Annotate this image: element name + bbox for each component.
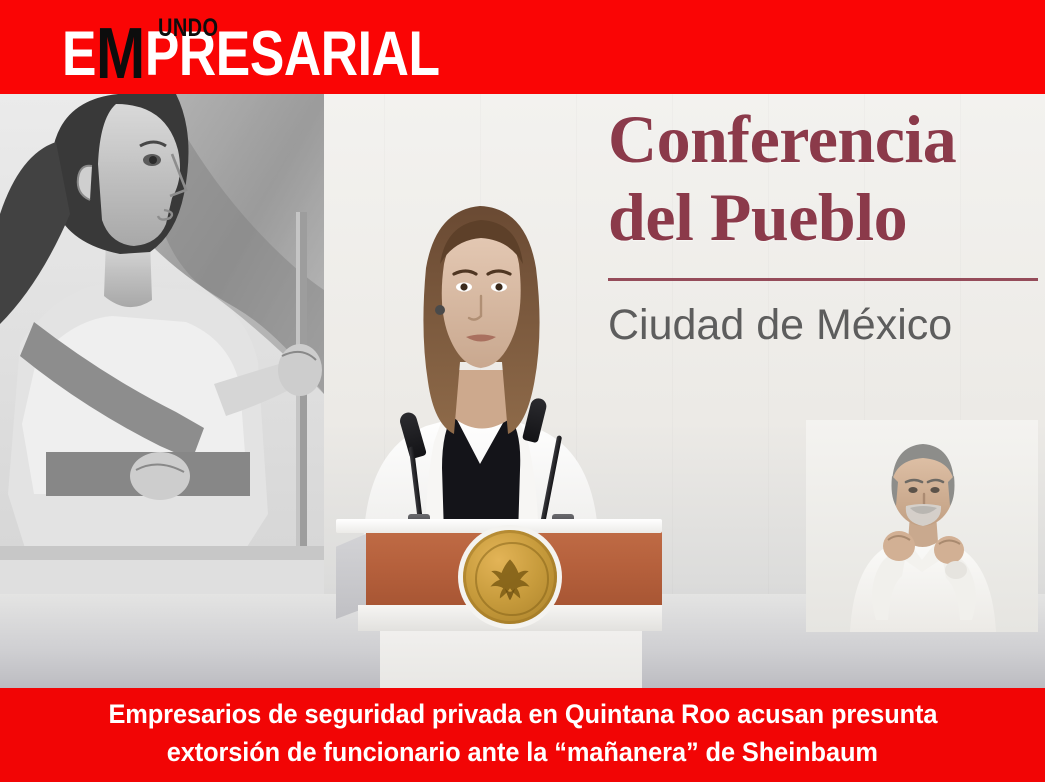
podium-column [380,627,642,688]
patriotic-mural-image [0,94,324,614]
national-seal-emblem [458,525,562,629]
caption-bar: Empresarios de seguridad privada en Quin… [0,688,1045,782]
brand-logo-e: E [62,19,96,89]
backdrop-divider-rule [608,278,1038,281]
backdrop-city-label: Ciudad de México [608,299,1045,351]
caption-line-1: Empresarios de seguridad privada en Quin… [108,695,937,733]
caption-line-2: extorsión de funcionario ante la “mañane… [167,733,878,771]
brand-logo-m: M [96,14,145,94]
backdrop-signage: Conferencia del Pueblo Ciudad de México [608,100,1045,351]
presidential-podium [336,519,662,688]
masthead-banner: EMPRESARIAL UNDO [0,0,1045,94]
national-seal-disc [463,530,557,624]
eagle-icon [483,551,538,606]
brand-logo-wordmark: EMPRESARIAL [62,20,440,86]
news-image-card: EMPRESARIAL UNDO [0,0,1045,782]
video-still[interactable]: Conferencia del Pueblo Ciudad de México [0,94,1045,688]
sign-language-interpreter-inset[interactable] [806,420,1038,632]
backdrop-headline-line1: Conferencia [608,100,1045,178]
brand-logo-undo-superscript: UNDO [158,16,218,41]
backdrop-headline-line2: del Pueblo [608,178,1045,256]
